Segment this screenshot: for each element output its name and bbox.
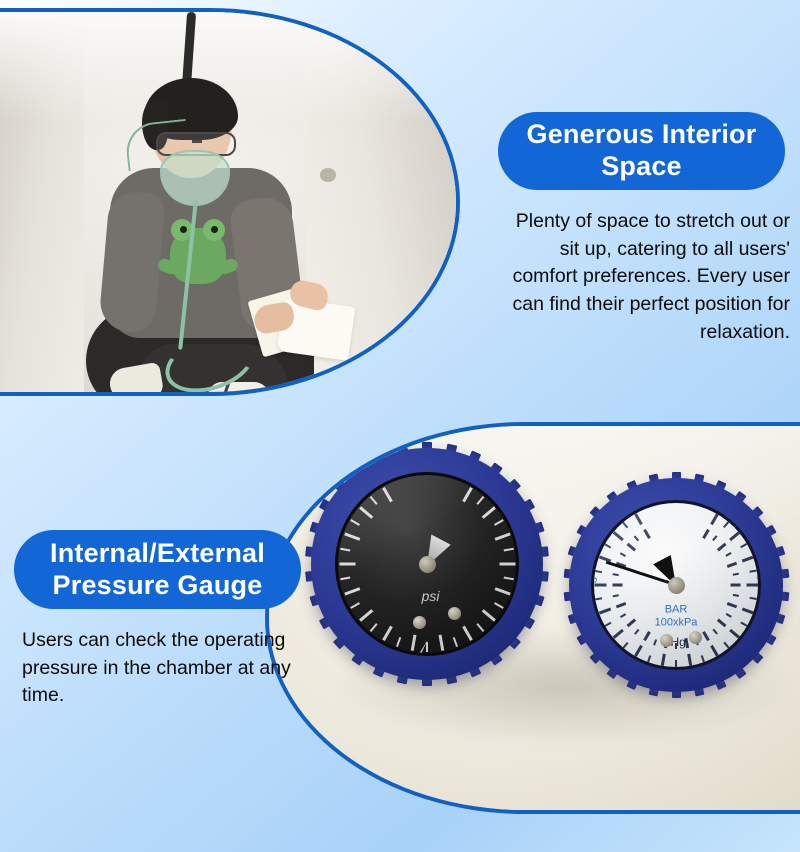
chamber-valve-icon [320, 168, 336, 182]
gauge-unit-psi: psi [422, 588, 440, 604]
person-figure [104, 52, 364, 396]
description-interior-space: Plenty of space to stretch out or sit up… [498, 208, 790, 346]
gauge-number: 0 [713, 657, 727, 664]
photo-pressure-gauges: 03691215 psi -30-25-20-15-10-50-1-0.8-0.… [265, 422, 800, 814]
photo-interior-chamber [0, 8, 460, 396]
psi-pressure-gauge: 03691215 psi [311, 448, 543, 680]
vacuum-pressure-gauge: -30-25-20-15-10-50-1-0.8-0.6-0.4-0.20 BA… [569, 478, 783, 692]
badge-top-line2: Space [601, 151, 682, 181]
gauge-face-right: -30-25-20-15-10-50-1-0.8-0.6-0.4-0.20 BA… [591, 500, 761, 670]
gauge-number: -1 [625, 655, 640, 666]
badge-internal-external-pressure-gauge: Internal/External Pressure Gauge [14, 530, 301, 609]
gauge-screw-left-2 [448, 607, 461, 620]
gauge-face-left: 03691215 psi [335, 472, 519, 656]
gauge-screw-right-2 [689, 631, 702, 644]
badge-top-line1: Generous Interior [527, 119, 757, 149]
badge-generous-interior-space: Generous Interior Space [498, 112, 785, 190]
feature-section-interior-space: Generous Interior Space Plenty of space … [0, 0, 800, 420]
gauge-unit-kpa-label: 100xkPa [655, 616, 698, 628]
gauge-screw-right-1 [660, 634, 673, 647]
gauge-hub-right [668, 577, 685, 594]
frog-eyes-icon [174, 226, 224, 238]
badge-bottom-line1: Internal/External [50, 538, 265, 568]
gauge-unit-bar: BAR 100xkPa [655, 604, 698, 629]
badge-bottom-line2: Pressure Gauge [53, 570, 263, 600]
gauge-unit-bar-label: BAR [665, 604, 688, 616]
gauge-screw-left-1 [413, 616, 426, 629]
gauge-hub-left [419, 556, 436, 573]
description-pressure-gauge: Users can check the operating pressure i… [22, 627, 312, 710]
